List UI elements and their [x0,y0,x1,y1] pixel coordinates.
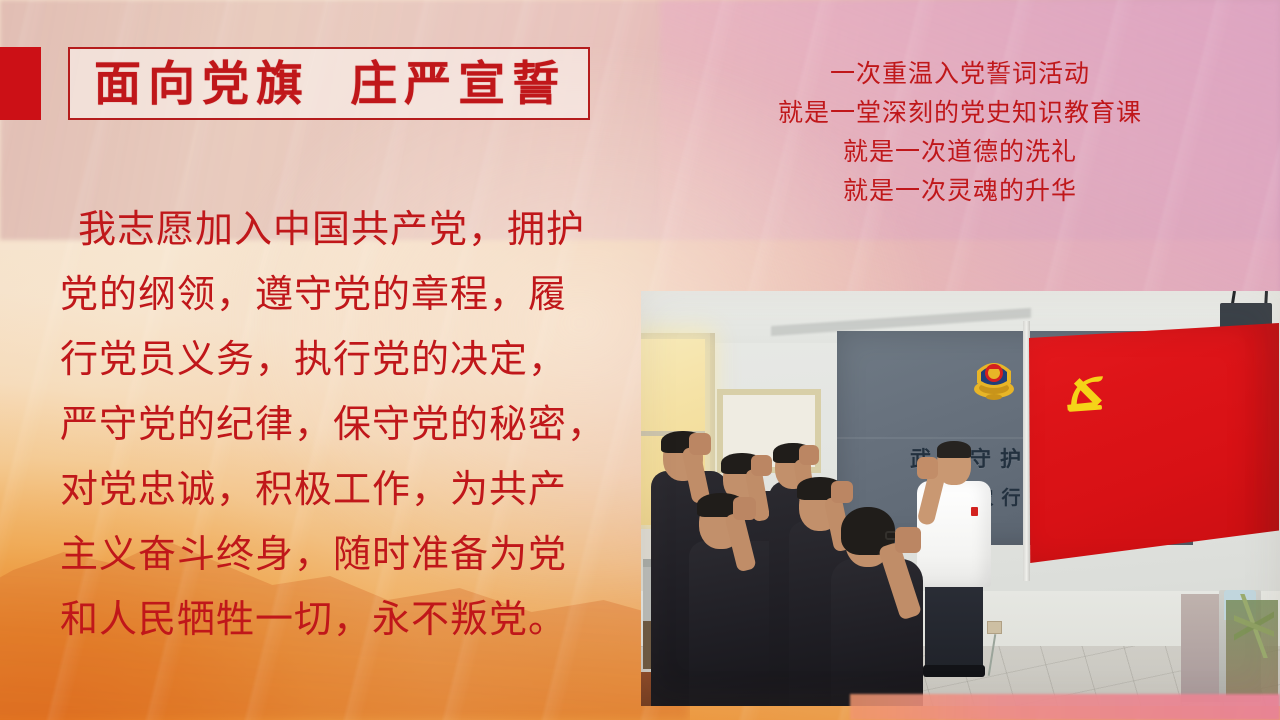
oath-ceremony-photo: 武装守护押运中 农行中 [641,291,1280,706]
instructor-legs [925,583,983,669]
oath-line-7: 和人民牺牲一切，永不叛党。 [60,588,630,653]
title-box: 面向党旗 庄严宣誓 [68,47,590,120]
photo-plant-leaves [1234,594,1274,658]
bottom-color-strip [850,694,1280,720]
subheading-line-1: 一次重温入党誓词活动 [700,55,1220,94]
oath-line-3: 行党员义务，执行党的决定， [60,328,630,393]
subheading-line-2: 就是一堂深刻的党史知识教育课 [700,94,1220,133]
oath-line-5: 对党忠诚，积极工作，为共产 [60,458,630,523]
title-red-block [0,47,41,120]
instructor-shoes [923,665,985,677]
oath-line-2: 党的纲领，遵守党的章程，履 [60,263,630,328]
page-title: 面向党旗 庄严宣誓 [94,60,566,107]
oath-taker-6-fist [895,527,921,553]
oath-line-1: 我志愿加入中国共产党，拥护 [60,198,630,263]
oath-text-block: 我志愿加入中国共产党，拥护 党的纲领，遵守党的章程，履 行党员义务，执行党的决定… [60,198,630,653]
oath-line-4: 严守党的纪律，保守党的秘密， [60,393,630,458]
slide-root: 面向党旗 庄严宣誓 一次重温入党誓词活动 就是一堂深刻的党史知识教育课 就是一次… [0,0,1280,720]
subheading-block: 一次重温入党誓词活动 就是一堂深刻的党史知识教育课 就是一次道德的洗礼 就是一次… [700,55,1220,211]
police-emblem-icon [971,349,1017,401]
oath-taker-1-fist [689,433,711,455]
oath-taker-3-fist [733,497,756,520]
oath-taker-2-fist [751,455,772,476]
instructor-party-badge [971,507,978,516]
subheading-line-4: 就是一次灵魂的升华 [700,172,1220,211]
instructor-raised-fist [917,457,938,479]
title-bar: 面向党旗 庄严宣誓 [0,47,590,120]
subheading-line-3: 就是一次道德的洗礼 [700,133,1220,172]
hammer-and-sickle-icon [1059,365,1115,423]
instructor-hair [937,441,971,458]
flag-pole [1023,321,1030,581]
oath-taker-5-fist [831,481,853,503]
oath-taker-4-fist [799,445,819,465]
photo-wall-outlet [987,621,1002,634]
oath-line-6: 主义奋斗终身，随时准备为党 [60,523,630,588]
